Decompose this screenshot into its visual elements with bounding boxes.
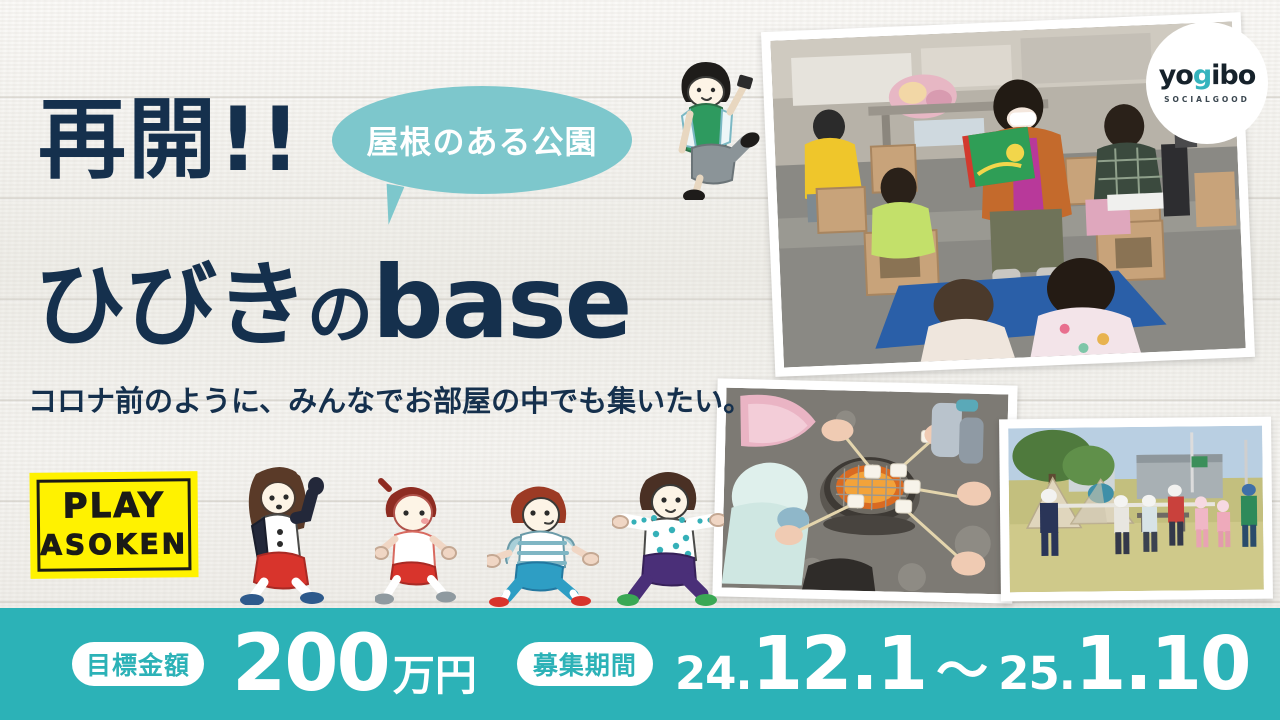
goal-amount-label: 目標金額 <box>72 642 204 686</box>
period-start-date: 12.1 <box>752 627 927 701</box>
kid-boy-dotted-shirt <box>612 462 724 607</box>
brand-base: base <box>372 244 630 361</box>
goal-amount-unit: 万円 <box>393 655 477 697</box>
photo-marshmallow-grill-image <box>722 388 1009 595</box>
brand-kana: ひびき <box>34 252 307 359</box>
campaign-banner: 目標金額 200 万円 募集期間 24. 12.1 〜 25. 1.10 <box>0 608 1280 720</box>
photo-outdoor-camp-image <box>1008 426 1264 593</box>
photo-marshmallow-grill <box>712 378 1017 603</box>
kid-boy-striped-shirt <box>487 475 599 607</box>
yogibo-tagline: SOCIALGOOD <box>1164 95 1250 104</box>
goal-amount-number: 200 <box>232 625 389 703</box>
brand-title: ひびきのbase <box>34 252 630 354</box>
yogibo-wordmark: yogibo <box>1159 62 1256 89</box>
yogibo-word-part2: g <box>1193 60 1211 91</box>
speech-bubble-label: 屋根のある公園 <box>366 117 597 163</box>
poster-canvas: yogibo SOCIALGOOD 再開!! 屋根のある公園 ひびきのbase … <box>0 0 1280 720</box>
brand-no: の <box>307 276 372 353</box>
play-asoken-line2: ASOKEN <box>30 527 198 562</box>
speech-bubble: 屋根のある公園 <box>332 86 632 194</box>
goal-amount-value: 200 万円 <box>232 625 477 703</box>
headline-saikai: 再開!! <box>38 96 302 184</box>
photo-outdoor-camp <box>999 417 1273 602</box>
kid-girl-red-shorts <box>375 475 470 605</box>
period-end-year: 25. <box>998 651 1075 696</box>
period-label: 募集期間 <box>517 642 653 686</box>
kid-girl-red-skirt <box>238 460 348 605</box>
period-value: 24. 12.1 〜 25. 1.10 <box>675 627 1250 701</box>
kid-jumping-green-vest <box>660 52 770 200</box>
yogibo-word-part3: ibo <box>1211 60 1255 91</box>
period-start-year: 24. <box>675 651 752 696</box>
period-end-date: 1.10 <box>1075 627 1250 701</box>
sub-copy: コロナ前のように、みんなでお部屋の中でも集いたい。 <box>28 378 752 420</box>
yogibo-word-part1: yo <box>1159 60 1193 91</box>
yogibo-logo-badge: yogibo SOCIALGOOD <box>1146 22 1268 144</box>
play-asoken-line1: PLAY <box>30 485 198 527</box>
page-title: 再開!! <box>38 96 302 184</box>
play-asoken-logo: PLAY ASOKEN <box>29 471 198 579</box>
period-separator: 〜 <box>936 646 988 698</box>
